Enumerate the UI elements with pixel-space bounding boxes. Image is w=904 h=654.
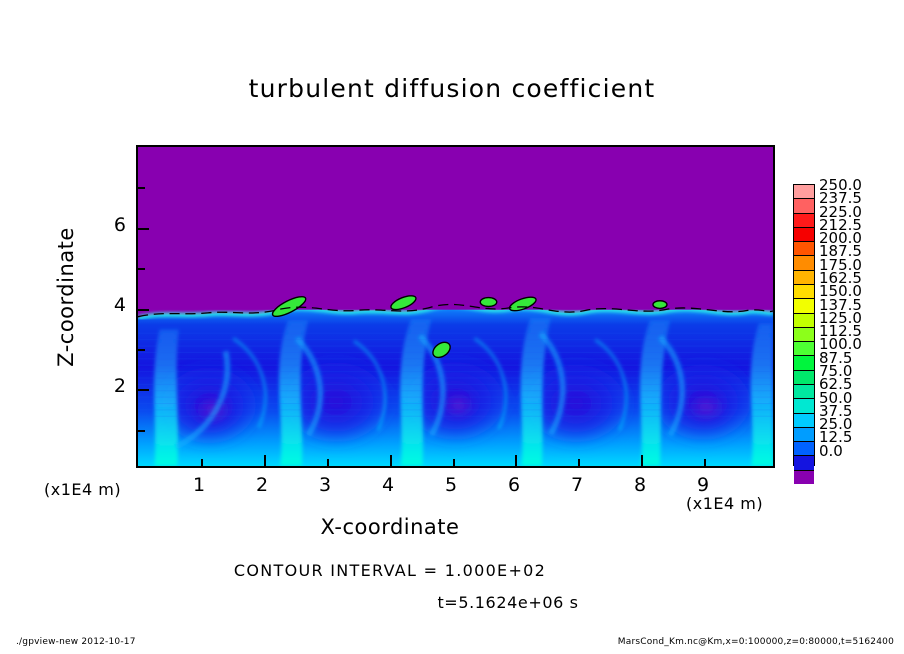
footer-left: ./gpview-new 2012-10-17 xyxy=(16,637,136,647)
colorbar-band xyxy=(794,256,814,270)
chart-title: turbulent diffusion coefficient xyxy=(0,74,904,103)
y-axis-unit: (x1E4 m) xyxy=(44,480,121,499)
x-axis-unit: (x1E4 m) xyxy=(686,494,763,513)
colorbar-tick-label: 0.0 xyxy=(819,444,843,459)
colorbar-band xyxy=(794,199,814,213)
x-tick-label: 1 xyxy=(179,474,219,496)
colorbar-band xyxy=(794,428,814,442)
colorbar-band xyxy=(794,214,814,228)
time-label: t=5.1624e+06 s xyxy=(0,593,904,612)
colorbar-band xyxy=(794,342,814,356)
plot-area xyxy=(136,145,775,468)
contour-field xyxy=(138,147,773,466)
x-tick-label: 5 xyxy=(431,474,471,496)
y-axis-title: Z-coordinate xyxy=(54,187,78,407)
colorbar-band xyxy=(794,328,814,342)
footer-right: MarsCond_Km.nc@Km,x=0:100000,z=0:80000,t… xyxy=(618,637,894,647)
colorbar-band xyxy=(794,228,814,242)
colorbar xyxy=(793,184,815,466)
x-tick-label: 2 xyxy=(242,474,282,496)
x-tick-label: 9 xyxy=(683,474,723,496)
x-tick-label: 6 xyxy=(494,474,534,496)
x-tick-label: 4 xyxy=(368,474,408,496)
colorbar-band xyxy=(794,271,814,285)
colorbar-band xyxy=(794,456,814,470)
colorbar-band xyxy=(794,442,814,456)
x-tick-label: 8 xyxy=(620,474,660,496)
colorbar-band xyxy=(794,371,814,385)
colorbar-band xyxy=(794,185,814,199)
colorbar-band xyxy=(794,356,814,370)
x-tick-label: 3 xyxy=(305,474,345,496)
colorbar-band xyxy=(794,414,814,428)
colorbar-band xyxy=(794,471,814,484)
y-tick-label: 6 xyxy=(96,214,126,236)
y-tick-label: 2 xyxy=(96,375,126,397)
colorbar-band xyxy=(794,285,814,299)
x-tick-label: 7 xyxy=(557,474,597,496)
colorbar-band xyxy=(794,299,814,313)
x-axis-title: X-coordinate xyxy=(0,515,780,539)
contour-interval-label: CONTOUR INTERVAL = 1.000E+02 xyxy=(0,561,780,580)
colorbar-band xyxy=(794,385,814,399)
colorbar-band xyxy=(794,399,814,413)
y-tick-label: 4 xyxy=(96,294,126,316)
colorbar-band xyxy=(794,314,814,328)
colorbar-band xyxy=(794,242,814,256)
